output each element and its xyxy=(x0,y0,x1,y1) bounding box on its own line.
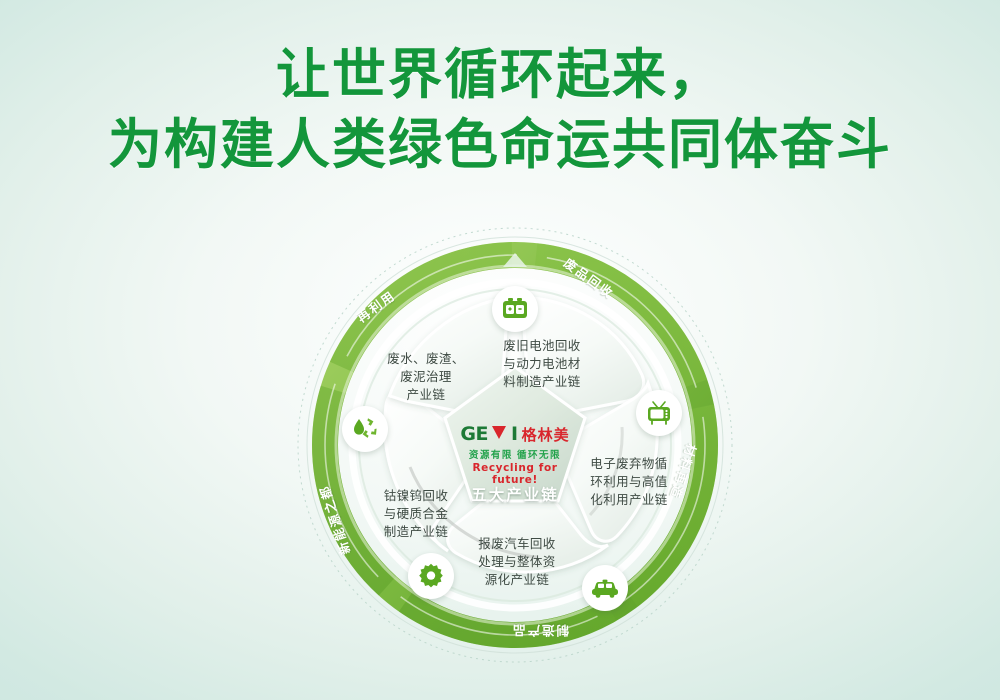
segment-text-battery: 废旧电池回收 与动力电池材 料制造产业链 xyxy=(490,337,594,391)
segment-text-car: 报废汽车回收 处理与整体资 源化产业链 xyxy=(465,535,569,589)
water-recycle-icon xyxy=(351,416,379,442)
gem-logo: GE I 格林美 资源有限 循环无限 Recycling for future! xyxy=(450,423,580,486)
gem-logo-wordmark: GE I 格林美 xyxy=(450,423,580,445)
gem-logo-chinese: 格林美 xyxy=(522,424,570,445)
page-title-line-1: 让世界循环起来， xyxy=(0,40,1000,110)
icon-bubble-car xyxy=(582,565,628,611)
center-title: 五大产业链 xyxy=(450,483,580,505)
ring-label-product: 制造产品 xyxy=(511,622,569,641)
gem-logo-latin: GE xyxy=(460,423,488,445)
battery-icon xyxy=(502,297,528,321)
industry-chain-diagram: 废旧电池回收 与动力电池材 料制造产业链 电子废弃物循 环利用与高值 化利用产业… xyxy=(290,215,740,675)
car-icon xyxy=(591,578,619,598)
gear-icon xyxy=(418,563,444,589)
icon-bubble-gear xyxy=(408,553,454,599)
icon-bubble-battery xyxy=(492,286,538,332)
tv-icon xyxy=(646,400,672,426)
segment-text-ewaste: 电子废弃物循 环利用与高值 化利用产业链 xyxy=(583,455,675,509)
gem-logo-slogan-cn: 资源有限 循环无限 xyxy=(450,447,580,461)
page-title-line-2: 为构建人类绿色命运共同体奋斗 xyxy=(0,110,1000,180)
page-title: 让世界循环起来， 为构建人类绿色命运共同体奋斗 xyxy=(0,40,1000,180)
poster-root: 让世界循环起来， 为构建人类绿色命运共同体奋斗 xyxy=(0,0,1000,700)
icon-bubble-tv xyxy=(636,390,682,436)
segment-text-water: 废水、废渣、 废泥治理 产业链 xyxy=(374,350,478,404)
gem-logo-latin-tail: I xyxy=(511,423,518,445)
icon-bubble-water-recycle xyxy=(342,406,388,452)
gem-logo-triangle-icon xyxy=(492,426,506,439)
